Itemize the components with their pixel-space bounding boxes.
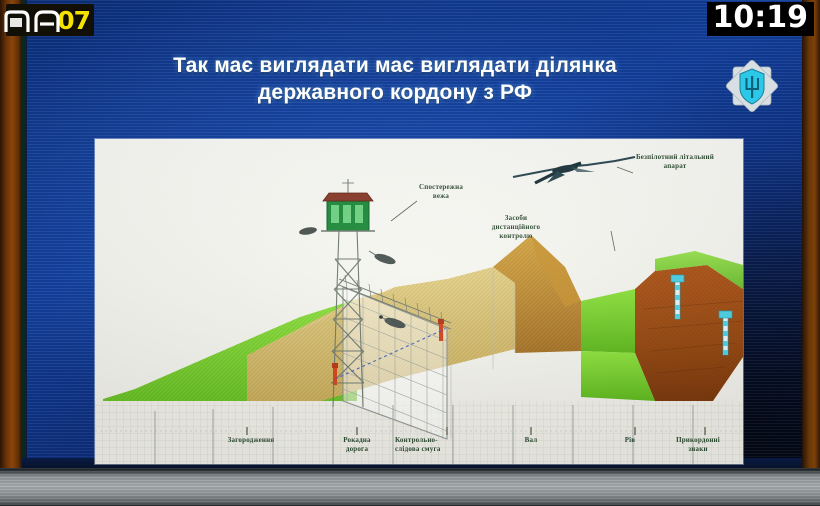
bottom-label-rampart-line-1: Вал — [499, 436, 563, 445]
bottom-label-barrier: Загородження — [203, 436, 299, 445]
bottom-label-lateral-road-line-1: Рокадна — [317, 436, 397, 445]
onscreen-clock: 10:19 — [707, 2, 815, 36]
slide-title-line-1: Так має виглядати має виглядати ділянка — [95, 52, 695, 79]
callout-remote-control-means: Засоби дистанційного контролю — [463, 214, 569, 240]
bottom-label-markers-line-1: Прикордонні — [655, 436, 741, 445]
bottom-label-kss-line-1: Контрольно- — [395, 436, 505, 445]
callout-remote-control-line-2: дистанційного — [463, 223, 569, 232]
callout-uav-line-1: Безпілотний літальний — [615, 153, 735, 162]
page-title: Так має виглядати має виглядати ділянка … — [95, 52, 695, 107]
bottom-label-kss-line-2: слідова смуга — [395, 445, 505, 454]
room-wall-right-frame — [802, 0, 820, 506]
callout-observation-tower: Спостережна вежа — [393, 183, 489, 201]
callout-remote-control-line-3: контролю — [463, 232, 569, 241]
callout-uav-line-2: апарат — [615, 162, 735, 171]
callout-unmanned-aerial-vehicle: Безпілотний літальний апарат — [615, 153, 735, 171]
callout-remote-control-line-1: Засоби — [463, 214, 569, 223]
callout-observation-tower-line-1: Спостережна — [393, 183, 489, 192]
room-wall-left-frame — [0, 0, 22, 506]
bottom-label-ditch-line-1: Рів — [603, 436, 657, 445]
room-bottom-ledge — [0, 468, 820, 506]
ledge-sheen — [0, 468, 820, 506]
onscreen-clock-time: 10:19 — [713, 0, 809, 35]
slide-title-line-2: державного кордону з РФ — [95, 79, 695, 106]
bottom-label-border-markers: Прикордонні знаки — [655, 436, 741, 454]
bottom-label-rampart: Вал — [499, 436, 563, 445]
ukrainian-border-guard-emblem-icon — [723, 57, 781, 115]
tv-channel-logo-icon — [2, 8, 64, 36]
bottom-label-ditch: Рів — [603, 436, 657, 445]
bottom-label-control-trace-strip: Контрольно- слідова смуга — [395, 436, 505, 454]
bottom-label-markers-line-2: знаки — [655, 445, 741, 454]
bottom-label-lateral-road-line-2: дорога — [317, 445, 397, 454]
screen-left-edge — [22, 0, 27, 470]
tv-broadcast-screenshot: Так має виглядати має виглядати ділянка … — [0, 0, 820, 506]
bottom-label-barrier-line-1: Загородження — [203, 436, 299, 445]
callout-observation-tower-line-2: вежа — [393, 192, 489, 201]
border-cross-section-diagram: Спостережна вежа Засоби дистанційного ко… — [95, 139, 743, 464]
bottom-label-lateral-road: Рокадна дорога — [317, 436, 397, 454]
